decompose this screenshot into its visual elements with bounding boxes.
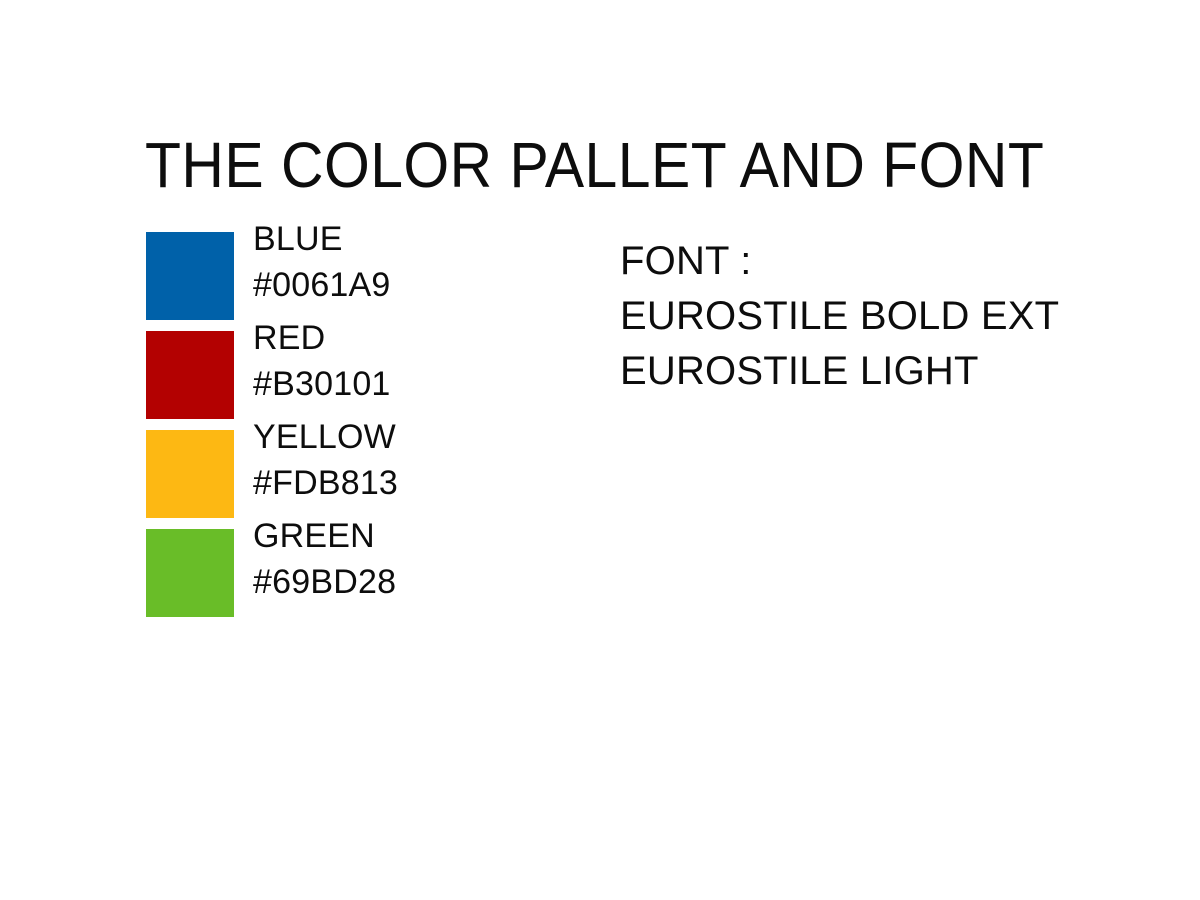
font-name-primary: EUROSTILE BOLD EXT (620, 289, 1140, 344)
color-name: YELLOW (253, 414, 503, 460)
color-swatch-green (146, 529, 234, 617)
list-item: GREEN #69BD28 (146, 529, 506, 617)
color-palette-list: BLUE #0061A9 RED #B30101 YELLOW #FDB813 … (146, 232, 506, 617)
color-swatch-label-yellow: YELLOW #FDB813 (253, 414, 503, 506)
color-hex: #69BD28 (253, 559, 503, 605)
color-swatch-yellow (146, 430, 234, 518)
font-section-label: FONT : (620, 234, 1140, 289)
list-item: BLUE #0061A9 (146, 232, 506, 320)
slide-canvas: THE COLOR PALLET AND FONT BLUE #0061A9 R… (0, 0, 1200, 900)
color-swatch-red (146, 331, 234, 419)
color-name: GREEN (253, 513, 503, 559)
color-hex: #0061A9 (253, 262, 503, 308)
list-item: YELLOW #FDB813 (146, 430, 506, 518)
color-hex: #B30101 (253, 361, 503, 407)
color-swatch-blue (146, 232, 234, 320)
color-name: RED (253, 315, 503, 361)
font-specification-block: FONT : EUROSTILE BOLD EXT EUROSTILE LIGH… (620, 234, 1140, 399)
color-hex: #FDB813 (253, 460, 503, 506)
font-name-secondary: EUROSTILE LIGHT (620, 344, 1140, 399)
color-name: BLUE (253, 216, 503, 262)
color-swatch-label-red: RED #B30101 (253, 315, 503, 407)
list-item: RED #B30101 (146, 331, 506, 419)
color-swatch-label-green: GREEN #69BD28 (253, 513, 503, 605)
page-title: THE COLOR PALLET AND FONT (145, 129, 1074, 201)
color-swatch-label-blue: BLUE #0061A9 (253, 216, 503, 308)
